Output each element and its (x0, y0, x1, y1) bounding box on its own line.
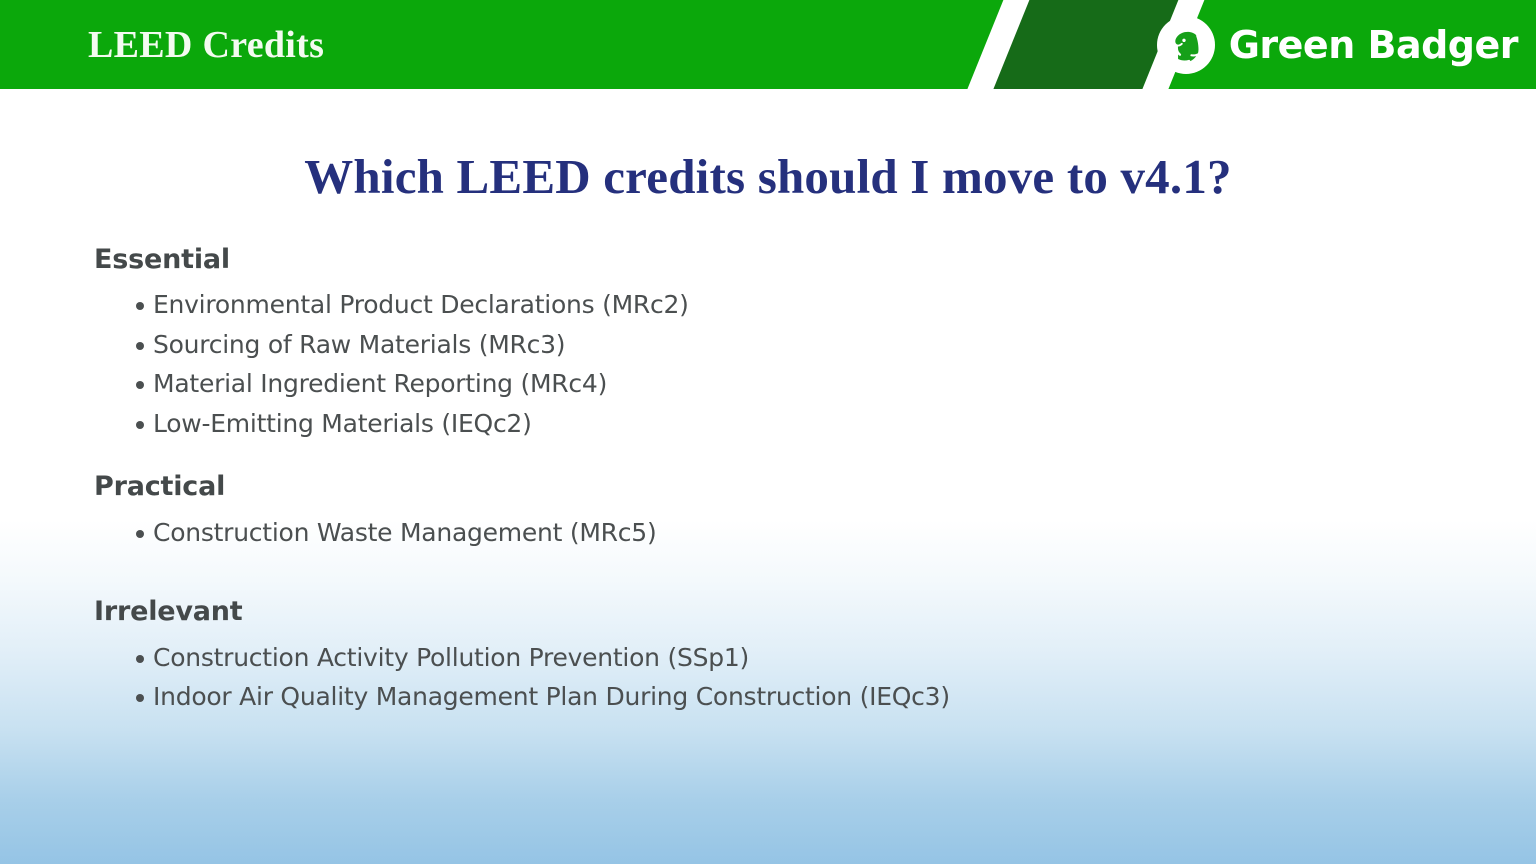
group-heading: Essential (94, 246, 1454, 274)
brand-name-text: Green Badger (1229, 23, 1518, 67)
list-item: Material Ingredient Reporting (MRc4) (94, 364, 1454, 404)
list-item: Construction Waste Management (MRc5) (94, 513, 1454, 553)
group-heading: Irrelevant (94, 598, 1454, 626)
group-irrelevant: Irrelevant Construction Activity Polluti… (94, 598, 1454, 716)
list-item-label: Material Ingredient Reporting (MRc4) (153, 369, 607, 398)
list-item-label: Construction Waste Management (MRc5) (153, 518, 656, 547)
group-spacer (94, 443, 1454, 473)
header-title: LEED Credits (88, 23, 324, 67)
group-heading: Practical (94, 473, 1454, 501)
bullet-dot-icon (136, 302, 144, 310)
slide: LEED Credits Green Badger Which LEED cre… (0, 0, 1536, 864)
list-item-label: Environmental Product Declarations (MRc2… (153, 290, 689, 319)
credit-groups: Essential Environmental Product Declarat… (94, 246, 1454, 717)
group-spacer (94, 552, 1454, 598)
list-item: Environmental Product Declarations (MRc2… (94, 285, 1454, 325)
bullet-dot-icon (136, 694, 144, 702)
list-item-label: Construction Activity Pollution Preventi… (153, 643, 749, 672)
bullet-list-essential: Environmental Product Declarations (MRc2… (94, 285, 1454, 443)
bullet-dot-icon (136, 381, 144, 389)
badger-head-icon (1157, 16, 1215, 74)
list-item: Sourcing of Raw Materials (MRc3) (94, 325, 1454, 365)
bullet-dot-icon (136, 342, 144, 350)
group-essential: Essential Environmental Product Declarat… (94, 246, 1454, 443)
group-practical: Practical Construction Waste Management … (94, 473, 1454, 552)
bullet-list-practical: Construction Waste Management (MRc5) (94, 513, 1454, 553)
list-item: Construction Activity Pollution Preventi… (94, 638, 1454, 678)
list-item-label: Low-Emitting Materials (IEQc2) (153, 409, 532, 438)
page-title: Which LEED credits should I move to v4.1… (0, 148, 1536, 205)
bullet-dot-icon (136, 530, 144, 538)
list-item-label: Sourcing of Raw Materials (MRc3) (153, 330, 565, 359)
slide-header-bar: LEED Credits Green Badger (0, 0, 1536, 89)
bullet-list-irrelevant: Construction Activity Pollution Preventi… (94, 638, 1454, 717)
list-item: Indoor Air Quality Management Plan Durin… (94, 677, 1454, 717)
list-item: Low-Emitting Materials (IEQc2) (94, 404, 1454, 444)
bullet-dot-icon (136, 655, 144, 663)
bullet-dot-icon (136, 421, 144, 429)
list-item-label: Indoor Air Quality Management Plan Durin… (153, 682, 950, 711)
brand-logo: Green Badger (1157, 16, 1518, 74)
